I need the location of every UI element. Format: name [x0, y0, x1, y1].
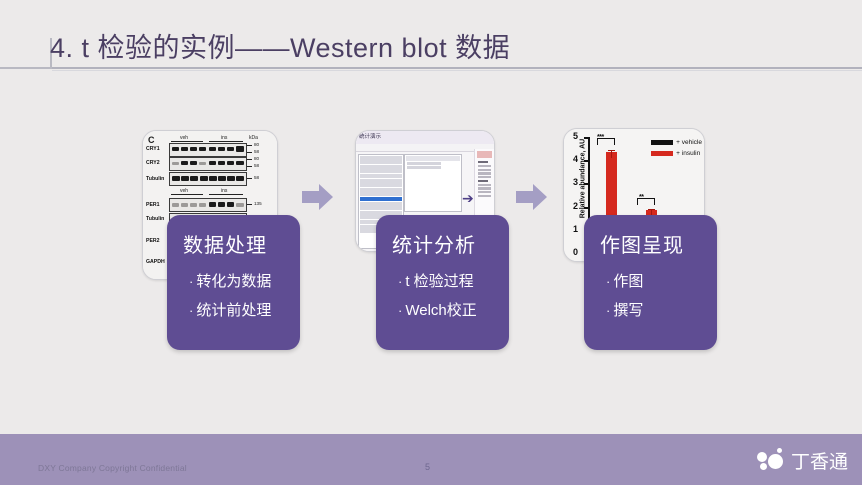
list-item: [360, 183, 402, 187]
chart-legend-item-insulin: + insulin: [651, 150, 702, 157]
software-output-line: [478, 184, 491, 186]
legend-swatch-insulin-icon: [651, 151, 673, 156]
blot-band-box-cry2: [169, 157, 247, 171]
blot-header-rule-ins-top: [209, 141, 243, 142]
blot-row-label-cry2: CRY2: [146, 160, 160, 166]
legend-label-insulin: + insulin: [676, 150, 700, 157]
chart-ytick-2: 2: [573, 202, 578, 211]
bullet-icon: ·: [189, 303, 193, 318]
list-item: [360, 179, 402, 183]
bullet-icon: ·: [398, 303, 402, 318]
software-output-line: [478, 172, 491, 174]
blot-row-label-per1: PER1: [146, 202, 160, 208]
software-output-line: [478, 191, 491, 193]
chart-legend: + vehicle + insulin: [651, 139, 702, 161]
blot-marker-cry2-80: 80: [254, 156, 259, 161]
blot-row-label-tubulin-1: Tubulin: [146, 176, 164, 182]
list-item: [360, 165, 402, 169]
blot-row-label-tubulin-2: Tubulin: [146, 216, 164, 222]
blot-marker-cry2-58: 58: [254, 163, 259, 168]
footer-band: [0, 434, 862, 485]
list-item-selected: [360, 197, 402, 201]
chart-ytick-1: 1: [573, 225, 578, 234]
list-item: [360, 160, 402, 164]
software-output-line: [478, 180, 488, 182]
chart-ytick-4: 4: [573, 155, 578, 164]
process-card-item-label: 转化为数据: [196, 273, 271, 290]
title-underline: [52, 67, 862, 69]
software-output-line: [478, 176, 491, 178]
bullet-icon: ·: [606, 274, 610, 289]
process-card-title: 作图呈现: [600, 229, 701, 258]
software-output-line: [478, 165, 491, 167]
blot-band-box-per1: [169, 198, 247, 212]
chart-significance-group1: ***: [597, 134, 604, 141]
bullet-icon: ·: [189, 274, 193, 289]
process-card-item-label: 撰写: [613, 302, 643, 319]
blot-band-box-cry1: [169, 143, 247, 157]
blot-marker-tubulin-58: 58: [254, 175, 259, 180]
process-card-item-label: 作图: [613, 273, 643, 290]
chart-ytick-3: 3: [573, 178, 578, 187]
flow-arrow-2-icon: [516, 183, 548, 211]
chart-significance-group2: **: [639, 194, 643, 201]
software-pane-header: [406, 156, 460, 161]
software-arrow-icon: ➔: [462, 191, 474, 205]
process-card-item: ·t 检验过程: [398, 270, 493, 291]
blot-band-box-tubulin-1: [169, 172, 247, 186]
logo-circles-icon: [757, 448, 787, 472]
software-pane-row: [407, 166, 441, 169]
footer-copyright: DXY Company Copyright Confidential: [38, 463, 187, 473]
software-output-line: [478, 161, 488, 163]
page-title: 4. t 检验的实例——Western blot 数据: [50, 26, 510, 65]
list-item: [360, 174, 402, 178]
blot-panel-letter: C: [148, 135, 155, 145]
blot-header-rule-veh-mid: [171, 194, 203, 195]
process-card-item-label: 统计前处理: [196, 302, 271, 319]
software-output-line: [478, 169, 491, 171]
software-output-line: [478, 195, 491, 197]
list-item: [360, 202, 402, 206]
process-card-item-label: Welch校正: [405, 302, 476, 319]
chart-ytick-0: 0: [573, 248, 578, 257]
process-card-data-processing[interactable]: 数据处理 ·转化为数据 ·统计前处理: [167, 215, 300, 350]
process-card-item: ·作图: [606, 270, 701, 291]
process-card-item: ·撰写: [606, 299, 701, 320]
chart-y-axis-label: Relative abundance, AU: [580, 129, 587, 229]
list-item: [360, 188, 402, 192]
list-item: [360, 192, 402, 196]
list-item: [360, 169, 402, 173]
bullet-icon: ·: [606, 303, 610, 318]
process-card-title: 统计分析: [392, 229, 493, 258]
flow-stage: C veh ins kDa CRY1: [0, 100, 862, 380]
software-output-line: [478, 187, 491, 189]
blot-row-label-gapdh: GAPDH: [146, 259, 165, 265]
legend-swatch-vehicle-icon: [651, 140, 673, 145]
blot-row-label-per2: PER2: [146, 238, 160, 244]
blot-header-rule-ins-mid: [209, 194, 243, 195]
flow-arrow-1-icon: [302, 183, 334, 211]
process-card-statistical-analysis[interactable]: 统计分析 ·t 检验过程 ·Welch校正: [376, 215, 509, 350]
process-card-item: ·统计前处理: [189, 299, 284, 320]
process-card-title: 数据处理: [183, 229, 284, 258]
process-card-item: ·转化为数据: [189, 270, 284, 291]
logo-text: 丁香通: [791, 447, 848, 474]
blot-kda-label: kDa: [249, 135, 258, 141]
blot-header-rule-veh-top: [171, 141, 203, 142]
legend-label-vehicle: + vehicle: [676, 139, 702, 146]
process-card-item: ·Welch校正: [398, 299, 493, 320]
process-card-item-label: t 检验过程: [405, 273, 473, 290]
title-decoration-line: [0, 38, 52, 69]
slide-root: 4. t 检验的实例——Western blot 数据 C veh ins kD…: [0, 0, 862, 485]
software-pane-row: [407, 162, 441, 165]
blot-row-label-cry1: CRY1: [146, 146, 160, 152]
title-underline-secondary: [52, 70, 862, 71]
process-card-presentation[interactable]: 作图呈现 ·作图 ·撰写: [584, 215, 717, 350]
chart-ytick-5: 5: [573, 132, 578, 141]
bullet-icon: ·: [398, 274, 402, 289]
page-number: 5: [425, 462, 430, 472]
software-window-title: 统计演示: [356, 131, 494, 145]
software-selection-pane: [404, 154, 462, 212]
list-item: [360, 156, 402, 160]
blot-marker-per1-135: 135: [254, 201, 262, 206]
blot-marker-cry1-58: 58: [254, 149, 259, 154]
list-item: [360, 206, 402, 210]
chart-legend-item-vehicle: + vehicle: [651, 139, 702, 146]
blot-marker-cry1-80: 80: [254, 142, 259, 147]
brand-logo: 丁香通: [757, 447, 848, 473]
software-output-banner: [477, 151, 492, 158]
